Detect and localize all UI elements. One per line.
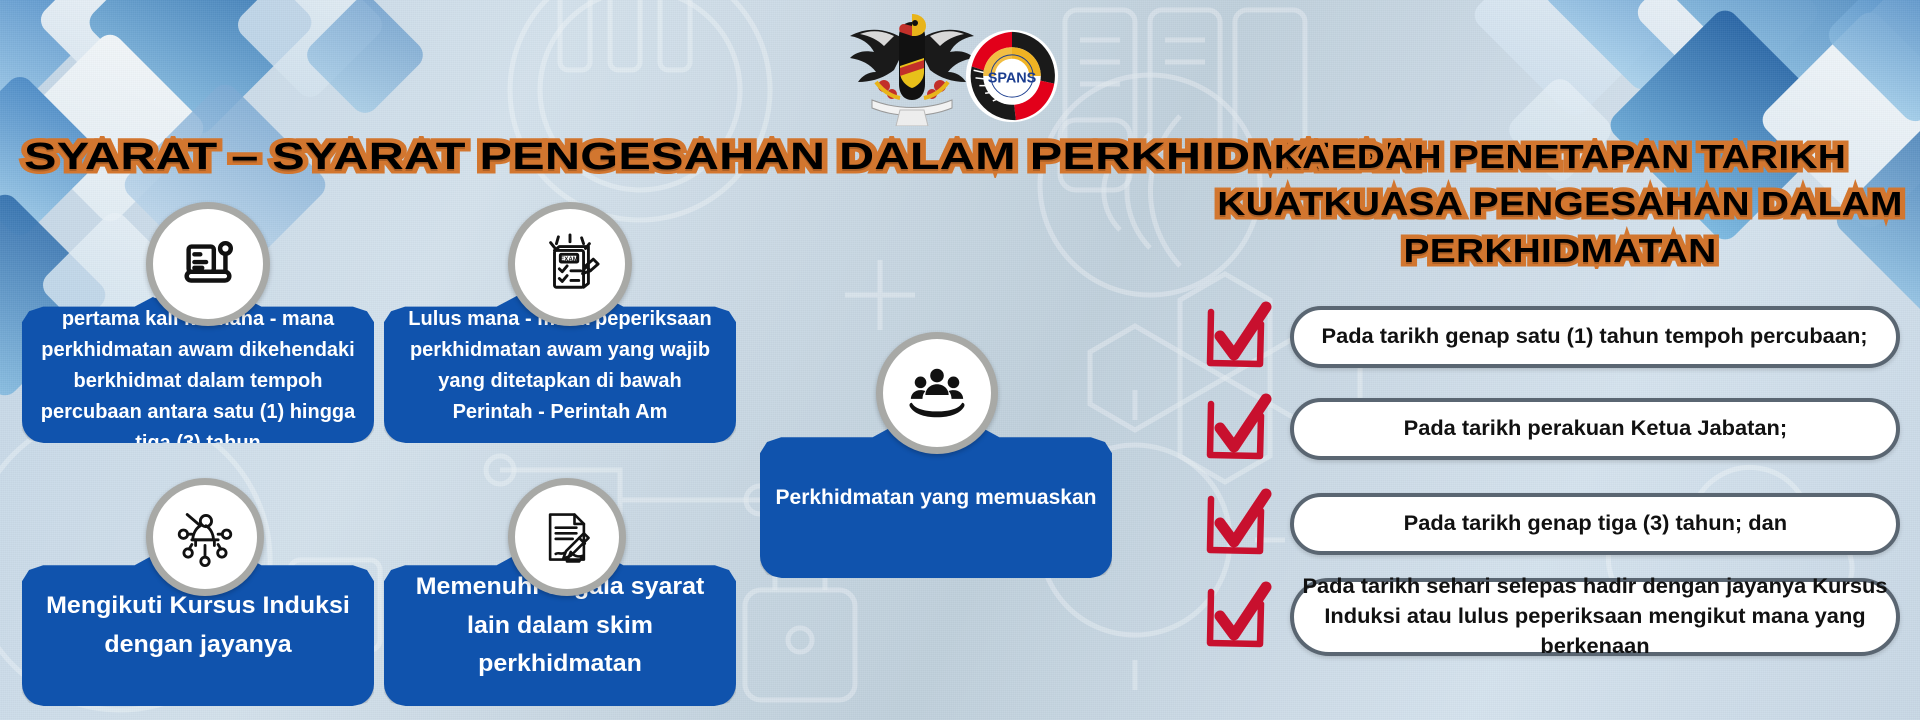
signing-document-icon: [537, 507, 597, 567]
id-card-icon: [177, 233, 239, 295]
page-title-right: KAEDAH PENETAPAN TARIKH KUATKUASA PENGES…: [1182, 134, 1920, 275]
checklist-pill-3: Pada tarikh genap tiga (3) tahun; dan: [1290, 493, 1900, 555]
checklist-pill-2: Pada tarikh perakuan Ketua Jabatan;: [1290, 398, 1900, 460]
condition-card-3-text: Mengikuti Kursus Induksi dengan jayanya: [30, 587, 367, 665]
red-check-box-icon[interactable]: [1200, 487, 1274, 561]
checklist-row-2: Pada tarikh perakuan Ketua Jabatan;: [1200, 392, 1900, 466]
checklist-text-3: Pada tarikh genap tiga (3) tahun; dan: [1403, 509, 1786, 539]
checklist-row-3: Pada tarikh genap tiga (3) tahun; dan: [1200, 487, 1900, 561]
red-check-box-icon[interactable]: [1200, 300, 1274, 374]
logo-group: SPANS: [842, 6, 1072, 126]
checklist-pill-4: Pada tarikh sehari selepas hadir dengan …: [1290, 578, 1900, 656]
training-presentation-icon: [175, 507, 235, 567]
exam-paper-icon: EXAM: [539, 233, 601, 295]
spans-logo-text: SPANS: [988, 71, 1037, 87]
checklist-text-4: Pada tarikh sehari selepas hadir dengan …: [1299, 572, 1892, 661]
red-check-box-icon[interactable]: [1200, 392, 1274, 466]
icon-circle-signing: [508, 478, 626, 596]
red-check-box-icon[interactable]: [1200, 580, 1274, 654]
checklist-row-4: Pada tarikh sehari selepas hadir dengan …: [1200, 578, 1900, 656]
checklist-text-1: Pada tarikh genap satu (1) tahun tempoh …: [1322, 322, 1868, 352]
icon-circle-exam: EXAM: [508, 202, 632, 326]
icon-circle-id-card: [146, 202, 270, 326]
checklist-pill-1: Pada tarikh genap satu (1) tahun tempoh …: [1290, 306, 1900, 368]
spans-logo-icon: SPANS: [964, 28, 1060, 124]
sarawak-coat-of-arms-icon: [842, 6, 982, 126]
checklist-text-2: Pada tarikh perakuan Ketua Jabatan;: [1403, 414, 1787, 444]
svg-text:EXAM: EXAM: [560, 256, 578, 263]
condition-card-5-text: Perkhidmatan yang memuaskan: [776, 482, 1097, 515]
icon-circle-training: [146, 478, 264, 596]
icon-circle-people: [876, 332, 998, 454]
people-group-icon: [906, 362, 968, 424]
checklist-row-1: Pada tarikh genap satu (1) tahun tempoh …: [1200, 300, 1900, 374]
